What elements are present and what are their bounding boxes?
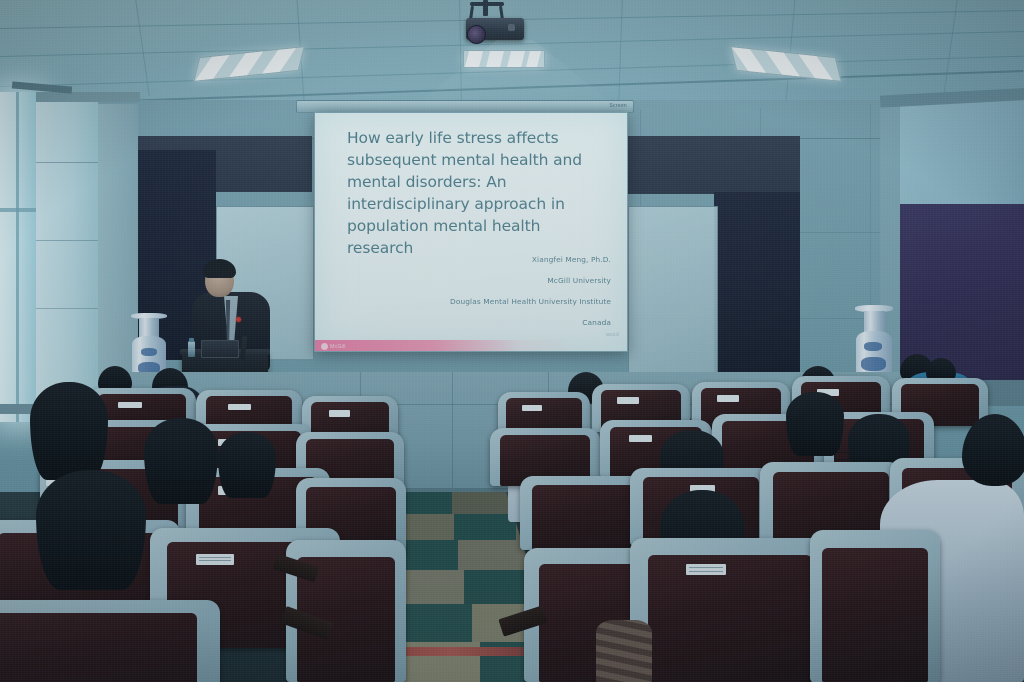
wall-right-upper (900, 100, 1024, 210)
seat[interactable] (0, 600, 220, 682)
vase-right-pattern (861, 357, 886, 371)
presenter-hair (203, 259, 236, 278)
mcgill-logo-icon: McGill (321, 343, 346, 350)
audience-head (36, 470, 146, 590)
audience-head (30, 382, 108, 480)
stage-seam (452, 372, 453, 500)
projector-lens-icon (467, 25, 486, 44)
wall-banner-right (624, 136, 800, 194)
seat-label (522, 405, 542, 411)
wall-seam (36, 240, 98, 241)
floor-tile (458, 540, 526, 570)
presenter-lapel-pin (236, 317, 241, 322)
whiteboard-right (628, 206, 718, 376)
floor-tile (454, 514, 516, 540)
slide-corner-mark: McGill (606, 332, 619, 337)
audience-head (144, 418, 218, 504)
floor-tile (452, 492, 510, 514)
curtain-right (714, 192, 800, 374)
slide-credit-university: McGill University (547, 276, 611, 285)
lecture-hall-photo: Screen How early life stress affects sub… (0, 0, 1024, 682)
seat-label[interactable] (196, 554, 234, 565)
water-bottle-cap (189, 338, 194, 342)
seat-label (629, 435, 651, 442)
water-bottle (188, 341, 195, 357)
seat-label (717, 395, 739, 402)
window-mullion (16, 92, 19, 422)
projector-vent (508, 24, 515, 31)
seat[interactable] (810, 530, 940, 682)
screen-housing-label: Screen (609, 103, 627, 109)
eyeglasses-icon (822, 442, 840, 451)
wall-seam (36, 162, 98, 163)
laptop (201, 340, 239, 358)
slide-footer-band: McGill (315, 340, 627, 351)
seat-label (228, 404, 251, 410)
slide-credit-institute: Douglas Mental Health University Institu… (450, 297, 611, 306)
wall-column-left (36, 98, 98, 428)
seat-label (617, 397, 639, 404)
slide-credit-country: Canada (582, 318, 611, 327)
audience-body-striped (596, 620, 652, 682)
logo-text: McGill (330, 344, 346, 350)
seat[interactable] (630, 538, 830, 682)
wall-beam-left (36, 92, 140, 102)
seat-label (329, 410, 350, 417)
projection-screen: How early life stress affects subsequent… (314, 112, 628, 352)
eyeglasses-icon (834, 452, 850, 460)
vase-left-pattern (141, 348, 157, 356)
audience-head (218, 432, 276, 498)
logo-mark-icon (321, 343, 328, 350)
slide-credit-author: Xiangfei Meng, Ph.D. (532, 255, 611, 264)
seat-label (118, 402, 142, 408)
slide-title: How early life stress affects subsequent… (347, 127, 609, 259)
wall-seam (36, 308, 98, 309)
seat-label[interactable] (686, 564, 726, 576)
vase-right-pattern (864, 342, 882, 351)
